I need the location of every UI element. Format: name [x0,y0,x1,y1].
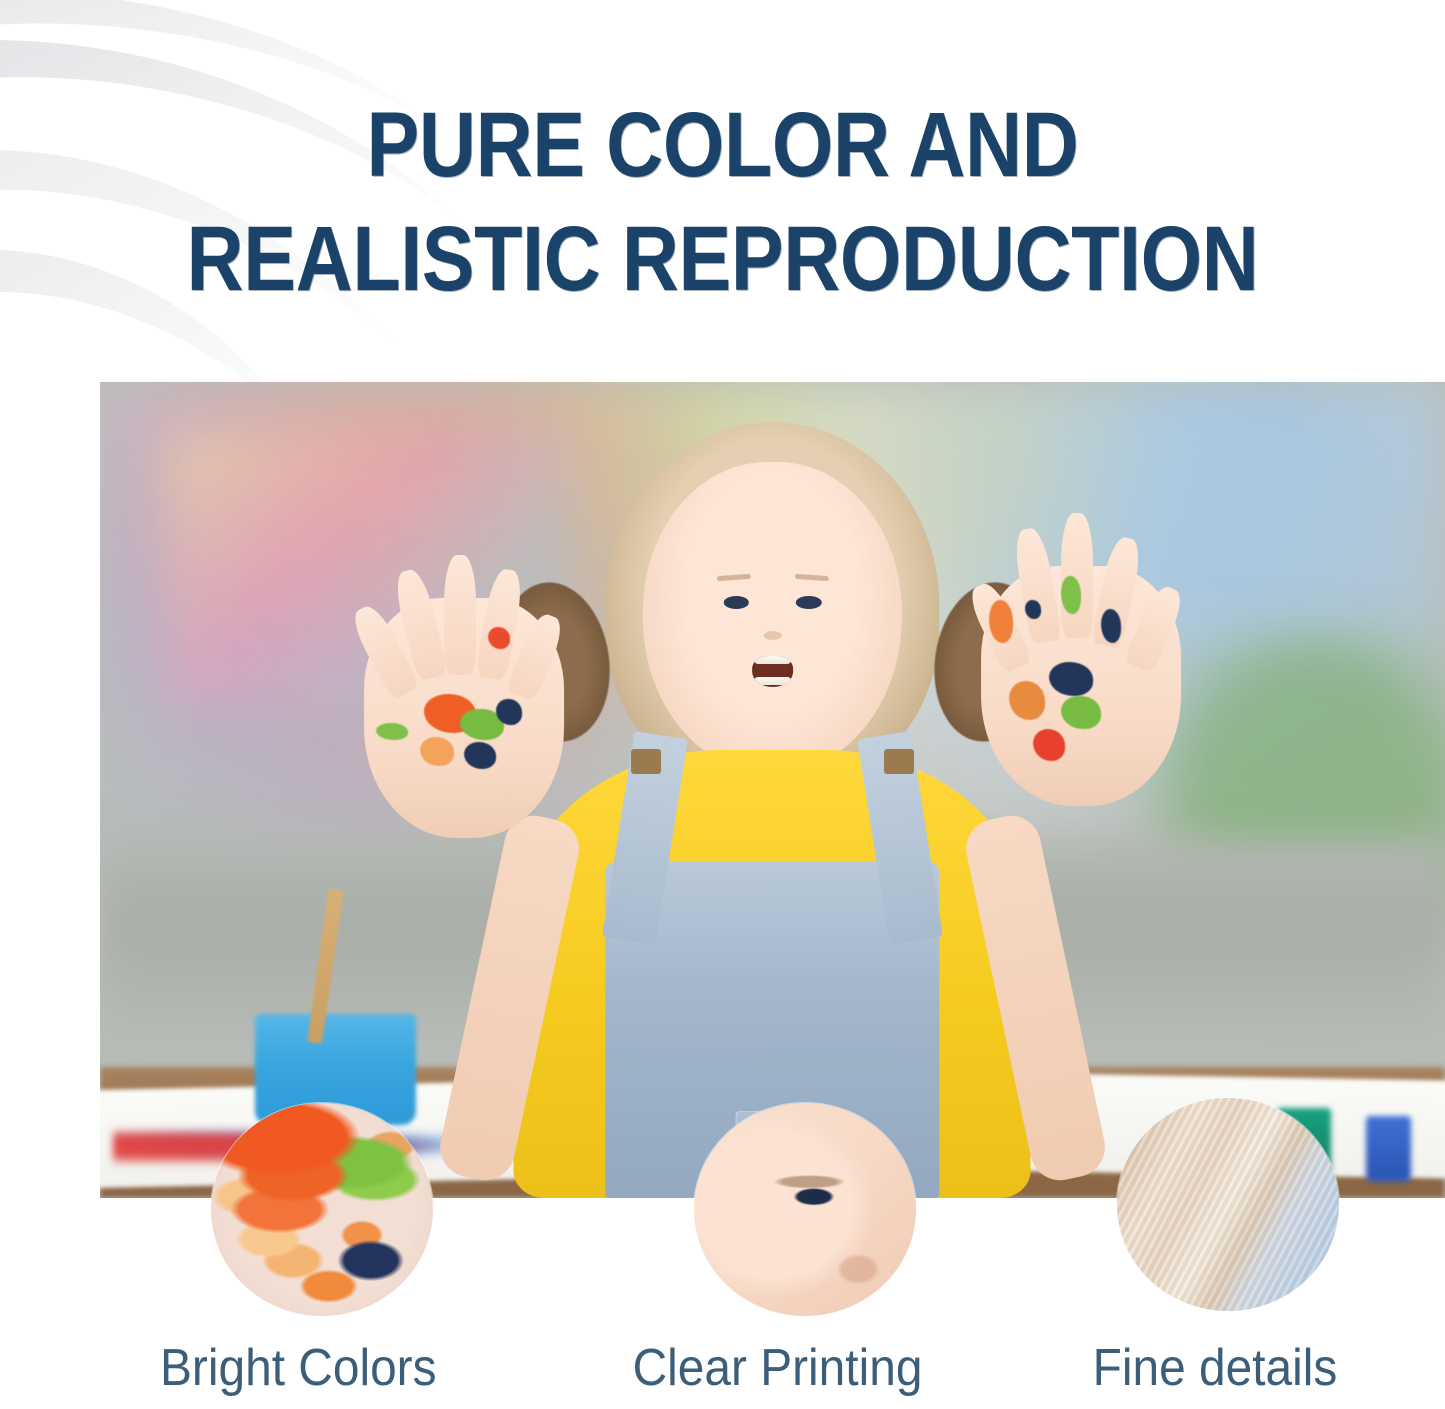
caption-clear-printing: Clear Printing [633,1335,923,1401]
caption-bright-colors: Bright Colors [160,1335,437,1401]
overalls-buckle-left [631,749,661,775]
headline-line-2: REALISTIC REPRODUCTION [101,210,1344,308]
callout-captions: Bright Colors Clear Printing Fine detail… [0,1335,1445,1405]
detail-crop-palm-paint [211,1103,433,1316]
finger [1061,513,1093,638]
headline-line-1: PURE COLOR AND [101,96,1344,194]
callout-circle-bright-colors [211,1103,433,1316]
finger [1123,583,1187,675]
mouth [752,656,793,687]
teeth-upper [754,656,790,664]
caption-fine-details: Fine details [1093,1335,1338,1401]
teeth-lower [754,677,790,685]
painted-hand-left [364,598,564,838]
paint-blob [496,699,522,725]
nose [763,631,781,640]
painted-hand-right [981,566,1181,806]
eyebrow-right [794,573,828,580]
eye-right [796,596,822,609]
paint-blob [989,600,1013,643]
paint-blob [1049,662,1093,696]
paint-blob [420,737,454,766]
eye-left [723,596,749,609]
page-title: PURE COLOR AND REALISTIC REPRODUCTION [0,96,1445,308]
paint-blob [1033,729,1065,760]
detail-crop-eye [694,1103,916,1316]
face [643,462,902,774]
callout-circle-fine-details [1117,1098,1339,1311]
finger [1011,526,1063,645]
paint-blob [464,742,496,768]
paint-blob [1009,681,1045,719]
callout-circle-clear-printing [694,1103,916,1316]
callout-circles [0,1100,1445,1320]
promo-page: PURE COLOR AND REALISTIC REPRODUCTION [0,0,1445,1409]
child-subject [356,398,1190,1198]
hero-photo [100,382,1445,1198]
hero-photo-scene [100,382,1445,1198]
paint-blob [376,723,408,740]
eyebrow-left [717,573,751,580]
finger [444,555,476,675]
paint-blob [488,627,510,649]
overalls-buckle-right [884,749,914,775]
hair-strand-texture [1117,1098,1339,1311]
paint-blob [1101,609,1121,643]
paint-blob [1061,696,1101,730]
